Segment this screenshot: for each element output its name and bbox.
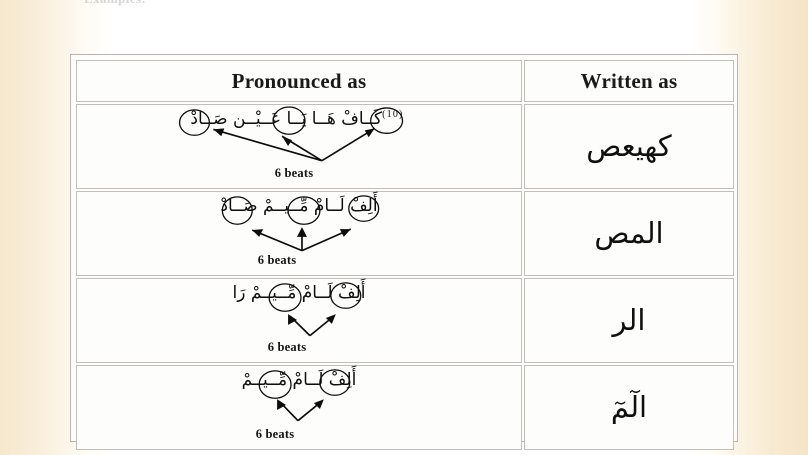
clipped-heading-text: Examples: bbox=[84, 0, 146, 7]
table-header: Pronounced as Written as bbox=[76, 60, 734, 102]
table-row: أَلِفْ لَــامْ مِّــيــمْ 6 beats bbox=[76, 365, 734, 450]
madd-arrowhead-2 bbox=[282, 136, 292, 146]
pronounced-cell-4: أَلِفْ لَــامْ مِّــيــمْ 6 beats bbox=[76, 365, 522, 450]
written-cell-2: المص bbox=[524, 191, 734, 276]
annotation-block-3: أَلِفْ لَــامْ مِّــيــمْ رَا 6 beats bbox=[77, 279, 521, 362]
madd-arrowhead-3 bbox=[365, 128, 375, 137]
header-row: Pronounced as Written as bbox=[76, 60, 734, 102]
table-body: (10)كَــافْ هَــا يَــا عَــيْــن صَــاد… bbox=[76, 104, 734, 450]
madd-arrowhead-7 bbox=[288, 314, 297, 325]
pronounced-cell-1: (10)كَــافْ هَــا يَــا عَــيْــن صَــاد… bbox=[76, 104, 522, 189]
annotation-block-4: أَلِفْ لَــامْ مِّــيــمْ 6 beats bbox=[77, 366, 521, 449]
column-header-pronounced-as: Pronounced as bbox=[76, 60, 522, 102]
written-cell-4: الٓمٓ bbox=[524, 365, 734, 450]
pronounced-cell-2: أَلِفْ لَــامْ مِّــيــمْ صَــادْ bbox=[76, 191, 522, 276]
examples-table: Pronounced as Written as (10)كَــافْ هَـ… bbox=[74, 58, 736, 452]
beats-label-3: 6 beats bbox=[65, 340, 509, 355]
written-arabic-3: الر bbox=[613, 303, 646, 337]
table-row: (10)كَــافْ هَــا يَــا عَــيْــن صَــاد… bbox=[76, 104, 734, 189]
written-arabic-1: كهيعص bbox=[586, 129, 671, 163]
pronounced-arabic-1: كَــافْ هَــا يَــا عَــيْــن صَــادْ bbox=[190, 109, 382, 129]
pronounced-text-1: (10)كَــافْ هَــا يَــا عَــيْــن صَــاد… bbox=[77, 109, 521, 129]
written-arabic-4: الٓمٓ bbox=[611, 390, 647, 424]
madd-arrowhead-9 bbox=[277, 399, 286, 410]
madd-arrowhead-4 bbox=[252, 229, 263, 237]
page-root: Examples: Pronounced as Written as (10)ك… bbox=[0, 0, 808, 455]
pronounced-cell-3: أَلِفْ لَــامْ مِّــيــمْ رَا 6 beats bbox=[76, 278, 522, 363]
annotation-block-1: (10)كَــافْ هَــا يَــا عَــيْــن صَــاد… bbox=[77, 105, 521, 188]
madd-arrowhead-5 bbox=[297, 227, 307, 237]
column-header-written-as: Written as bbox=[524, 60, 734, 102]
table-row: أَلِفْ لَــامْ مِّــيــمْ رَا 6 beats bbox=[76, 278, 734, 363]
madd-arrow-1 bbox=[213, 129, 322, 160]
written-cell-3: الر bbox=[524, 278, 734, 363]
pronounced-text-2: أَلِفْ لَــامْ مِّــيــمْ صَــادْ bbox=[77, 196, 521, 216]
written-arabic-2: المص bbox=[594, 216, 663, 250]
madd-arrowhead-1 bbox=[213, 128, 224, 136]
pronounced-text-3: أَلِفْ لَــامْ مِّــيــمْ رَا bbox=[77, 283, 521, 303]
beats-label-1: 6 beats bbox=[72, 166, 516, 181]
annotation-block-2: أَلِفْ لَــامْ مِّــيــمْ صَــادْ bbox=[77, 192, 521, 275]
beats-label-4: 6 beats bbox=[53, 427, 497, 442]
table-row: أَلِفْ لَــامْ مِّــيــمْ صَــادْ bbox=[76, 191, 734, 276]
examples-table-frame: Pronounced as Written as (10)كَــافْ هَـ… bbox=[70, 54, 738, 442]
written-cell-1: كهيعص bbox=[524, 104, 734, 189]
beats-label-2: 6 beats bbox=[55, 253, 499, 268]
footnote-marker-1: (10) bbox=[382, 109, 403, 120]
pronounced-text-4: أَلِفْ لَــامْ مِّــيــمْ bbox=[77, 370, 521, 390]
